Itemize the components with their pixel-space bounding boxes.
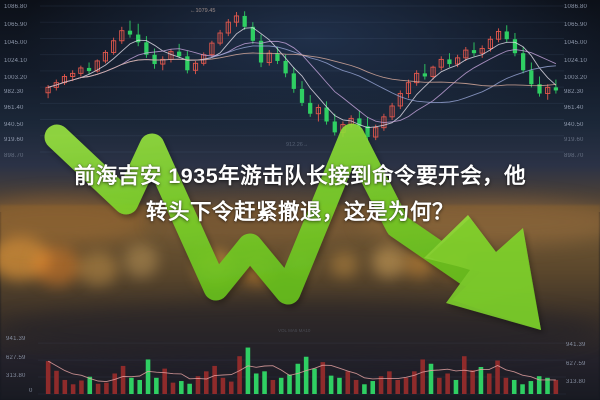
headline-line-1: 前海吉安 1935年游击队长接到命令要开会，他 bbox=[0, 158, 600, 194]
headline: 前海吉安 1935年游击队长接到命令要开会，他 转头下令赶紧撤退，这是为何？ bbox=[0, 158, 600, 230]
screenshot-root: 1086.80 1065.90 1045.00 1024.10 1003.20 … bbox=[0, 0, 600, 400]
headline-line-2: 转头下令赶紧撤退，这是为何？ bbox=[0, 194, 600, 230]
